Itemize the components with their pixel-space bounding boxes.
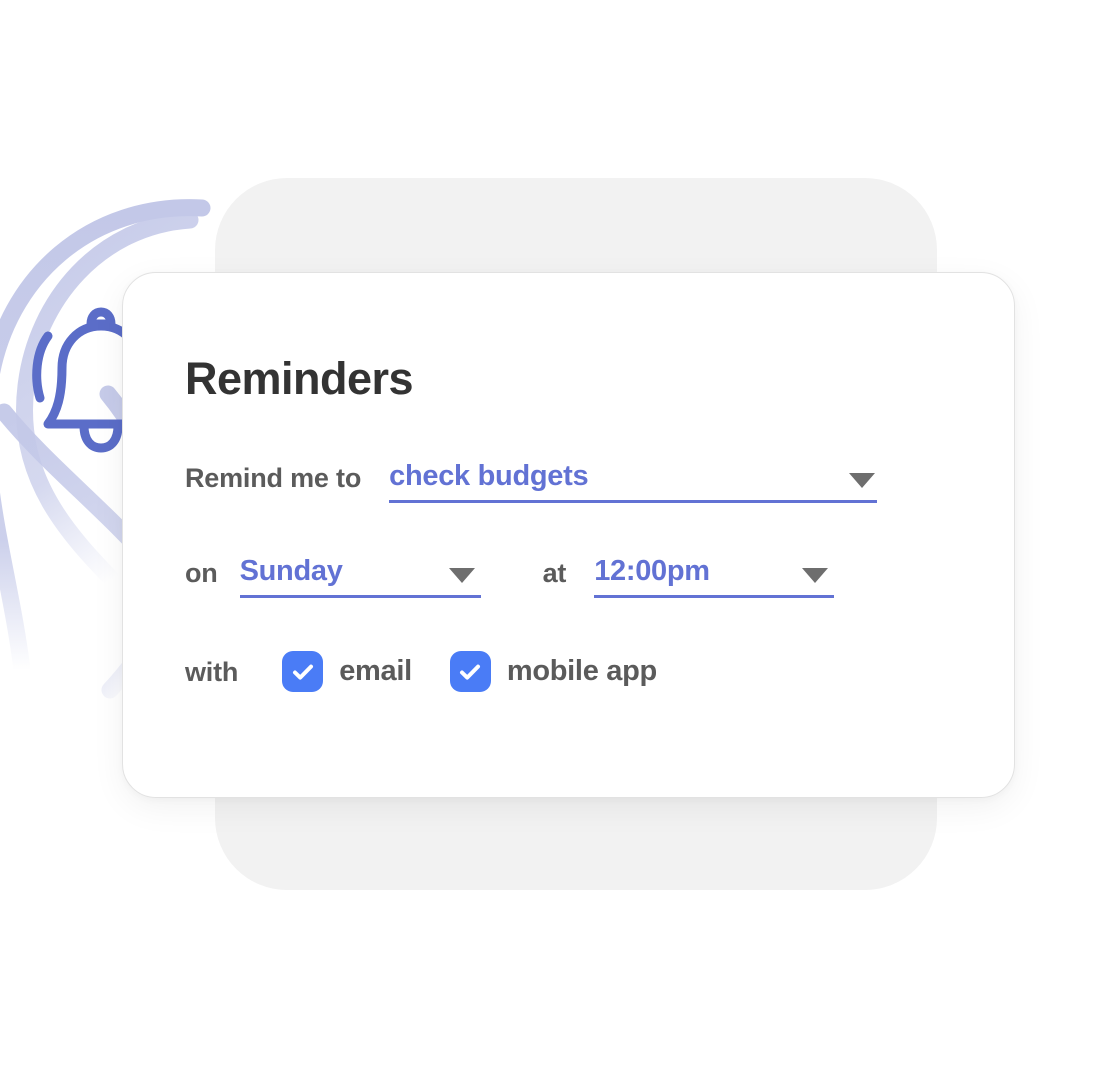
page-title: Reminders <box>185 353 413 405</box>
check-icon <box>457 659 483 685</box>
reminder-schedule-row: on Sunday at 12:00pm <box>185 551 834 598</box>
reminder-task-row: Remind me to check budgets <box>185 456 877 503</box>
time-select-value: 12:00pm <box>594 551 710 592</box>
day-select[interactable]: Sunday <box>240 551 481 598</box>
task-select[interactable]: check budgets <box>389 456 877 503</box>
check-icon <box>290 659 316 685</box>
checkbox-mobile-app[interactable]: mobile app <box>450 651 657 692</box>
remind-me-to-label: Remind me to <box>185 456 361 500</box>
checkbox-email[interactable]: email <box>282 651 412 692</box>
at-label: at <box>543 551 567 595</box>
reminder-channels-row: with email mobile app <box>185 651 657 693</box>
chevron-down-icon <box>449 568 475 583</box>
checkbox-email-label: email <box>339 655 412 688</box>
chevron-down-icon <box>802 568 828 583</box>
time-select[interactable]: 12:00pm <box>594 551 834 598</box>
checkbox-mobile-app-box[interactable] <box>450 651 491 692</box>
task-select-value: check budgets <box>389 456 588 497</box>
day-select-value: Sunday <box>240 551 343 592</box>
checkbox-mobile-app-label: mobile app <box>507 655 657 688</box>
with-label: with <box>185 651 238 693</box>
on-label: on <box>185 551 218 595</box>
checkbox-email-box[interactable] <box>282 651 323 692</box>
reminder-card: Reminders Remind me to check budgets on … <box>122 272 1015 798</box>
chevron-down-icon <box>849 473 875 488</box>
